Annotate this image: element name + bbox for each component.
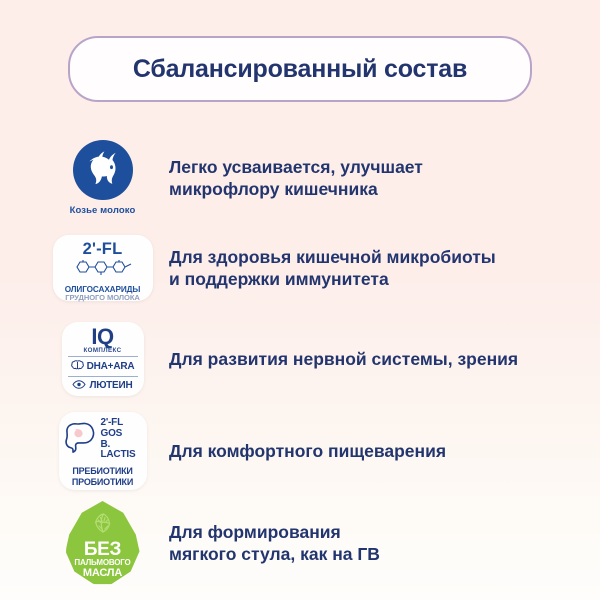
intestine-icon [64, 419, 98, 460]
badge-prebiotics: 2'-FL GOS B. LACTIS ПРЕБИОТИКИ ПРОБИОТИК… [40, 406, 165, 496]
badge-iq-item-1: DHA+ARA [87, 361, 135, 372]
badge-prebiotics-caption-2: ПРОБИОТИКИ [72, 477, 133, 487]
feature-description: Для формирования мягкого стула, как на Г… [169, 521, 380, 565]
description-line: мягкого стула, как на ГВ [169, 543, 380, 565]
description-line: Для развития нервной системы, зрения [169, 348, 518, 370]
feature-description: Для комфортного пищеварения [169, 440, 446, 462]
badge-2fl-caption-2: ГРУДНОГО МОЛОКА [65, 294, 140, 303]
feature-row: IQ КОМПЛЕКС DHA+ARA [40, 314, 570, 404]
badge-iq-item-2: ЛЮТЕИН [89, 380, 132, 391]
goat-icon [73, 140, 133, 200]
no-palm-oil-word-small-1: ПАЛЬМОВОГО [74, 559, 130, 568]
feature-row: Козье молоко Легко усваивается, улучшает… [40, 133, 570, 223]
description-line: Для комфортного пищеварения [169, 440, 446, 462]
palm-leaf-icon [90, 513, 116, 538]
feature-row: БЕЗ ПАЛЬМОВОГО МАСЛА Для формирования мя… [40, 497, 570, 589]
description-line: и поддержки иммунитета [169, 268, 496, 290]
badge-2fl: 2'-FL ОЛИГОСАХАРИДЫ ГРУДНОГО МОЛОКА [40, 224, 165, 312]
badge-no-palm-oil: БЕЗ ПАЛЬМОВОГО МАСЛА [40, 497, 165, 589]
molecule-icon [72, 259, 134, 281]
description-line: микрофлору кишечника [169, 178, 423, 200]
no-palm-oil-word-big: БЕЗ [84, 540, 121, 559]
feature-description: Для развития нервной системы, зрения [169, 348, 518, 370]
badge-iq-complex: IQ КОМПЛЕКС DHA+ARA [40, 314, 165, 404]
badge-iq-title: IQ [91, 327, 113, 348]
no-palm-oil-word-small-2: МАСЛА [83, 567, 122, 579]
goat-milk-label: Козье молоко [70, 205, 136, 216]
description-line: Для формирования [169, 521, 380, 543]
badge-goat-milk: Козье молоко [40, 133, 165, 223]
feature-description: Для здоровья кишечной микробиоты и подде… [169, 246, 496, 290]
brain-icon [71, 360, 84, 374]
feature-row: 2'-FL ОЛИГОСАХАРИДЫ ГРУДНОГО МОЛОКА Для … [40, 224, 570, 312]
page-title: Сбалансированный состав [133, 55, 467, 84]
badge-iq-subtitle: КОМПЛЕКС [83, 347, 121, 354]
divider [68, 376, 138, 377]
feature-row: 2'-FL GOS B. LACTIS ПРЕБИОТИКИ ПРОБИОТИК… [40, 406, 570, 496]
badge-prebiotics-line-3: B. LACTIS [101, 440, 142, 462]
divider [68, 356, 138, 357]
description-line: Легко усваивается, улучшает [169, 156, 423, 178]
badge-prebiotics-line-2: GOS [101, 429, 142, 440]
description-line: Для здоровья кишечной микробиоты [169, 246, 496, 268]
feature-description: Легко усваивается, улучшает микрофлору к… [169, 156, 423, 200]
badge-prebiotics-caption-1: ПРЕБИОТИКИ [72, 466, 132, 476]
eye-icon [72, 380, 86, 392]
badge-2fl-title: 2'-FL [83, 241, 123, 258]
page-title-box: Сбалансированный состав [68, 36, 532, 102]
